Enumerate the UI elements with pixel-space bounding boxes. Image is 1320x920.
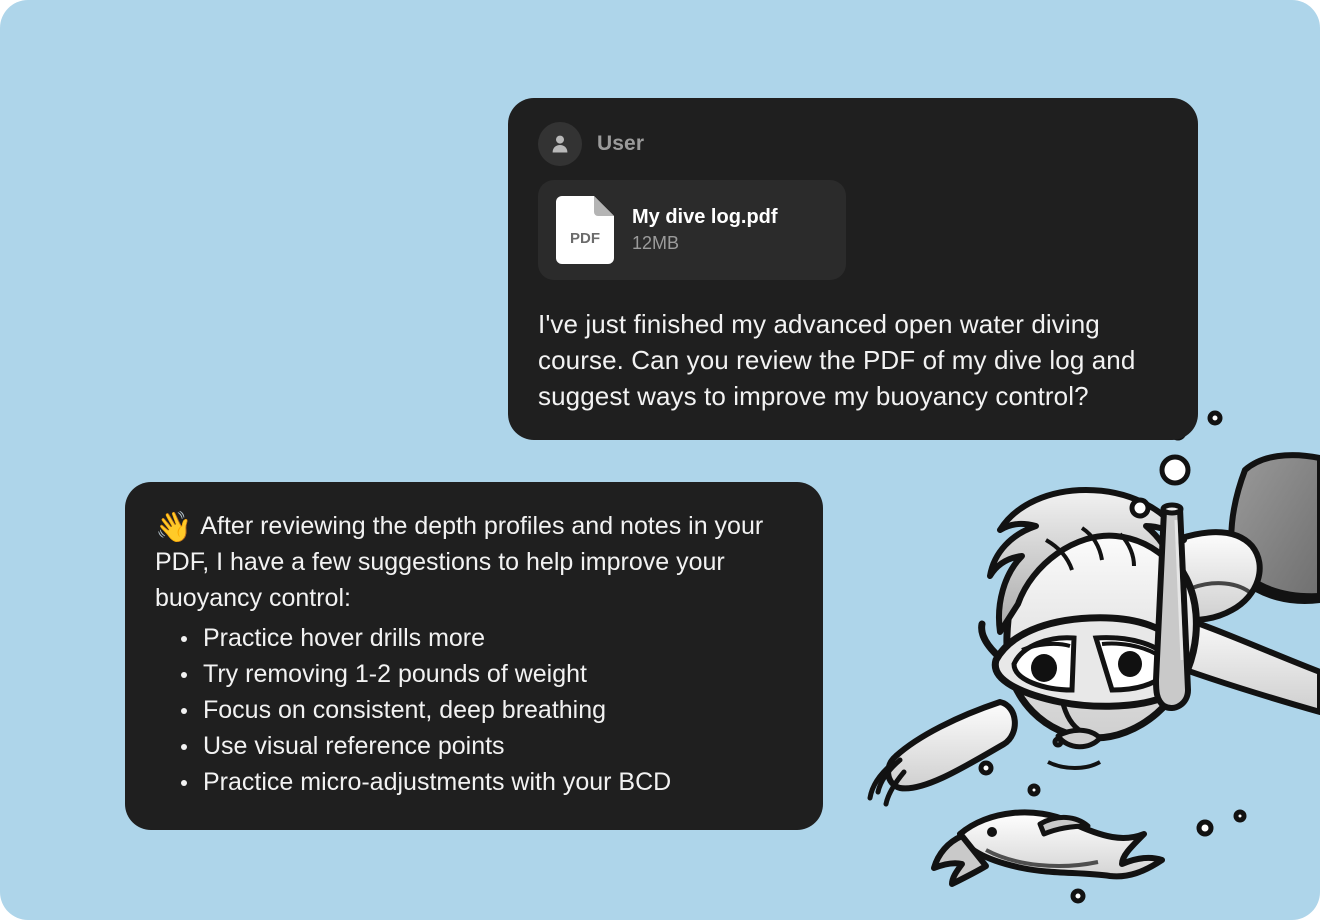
list-item: Try removing 1-2 pounds of weight: [155, 656, 793, 692]
pdf-file-icon: PDF: [556, 196, 614, 264]
dive-mask-shape: [982, 618, 1185, 706]
svg-text:PDF: PDF: [570, 230, 600, 247]
list-item: Use visual reference points: [155, 728, 793, 764]
attachment-file-name: My dive log.pdf: [632, 206, 778, 229]
diver-figure: [870, 455, 1320, 804]
scene-canvas: User PDF My dive log.pdf 12MB I've just …: [0, 0, 1320, 920]
fish-figure: [934, 812, 1162, 884]
attachment-card[interactable]: PDF My dive log.pdf 12MB: [538, 180, 846, 280]
bubbles-group: [981, 385, 1244, 901]
attachment-meta: My dive log.pdf 12MB: [632, 206, 778, 254]
assistant-message-bubble: 👋After reviewing the depth profiles and …: [125, 482, 823, 830]
assistant-intro-text: After reviewing the depth profiles and n…: [155, 512, 763, 612]
list-item: Focus on consistent, deep breathing: [155, 692, 793, 728]
user-message-header: User: [538, 122, 1168, 166]
waving-hand-icon: 👋: [155, 511, 192, 544]
user-message-bubble: User PDF My dive log.pdf 12MB I've just …: [508, 98, 1198, 440]
person-avatar-icon: [538, 122, 582, 166]
list-item: Practice hover drills more: [155, 620, 793, 656]
user-message-author: User: [597, 132, 644, 156]
snorkel-tube-shape: [1156, 505, 1188, 708]
user-message-text: I've just finished my advanced open wate…: [538, 306, 1168, 414]
attachment-file-size: 12MB: [632, 233, 778, 254]
assistant-message-intro: 👋After reviewing the depth profiles and …: [155, 508, 793, 616]
suggestion-list: Practice hover drills more Try removing …: [155, 620, 793, 800]
list-item: Practice micro-adjustments with your BCD: [155, 764, 793, 800]
